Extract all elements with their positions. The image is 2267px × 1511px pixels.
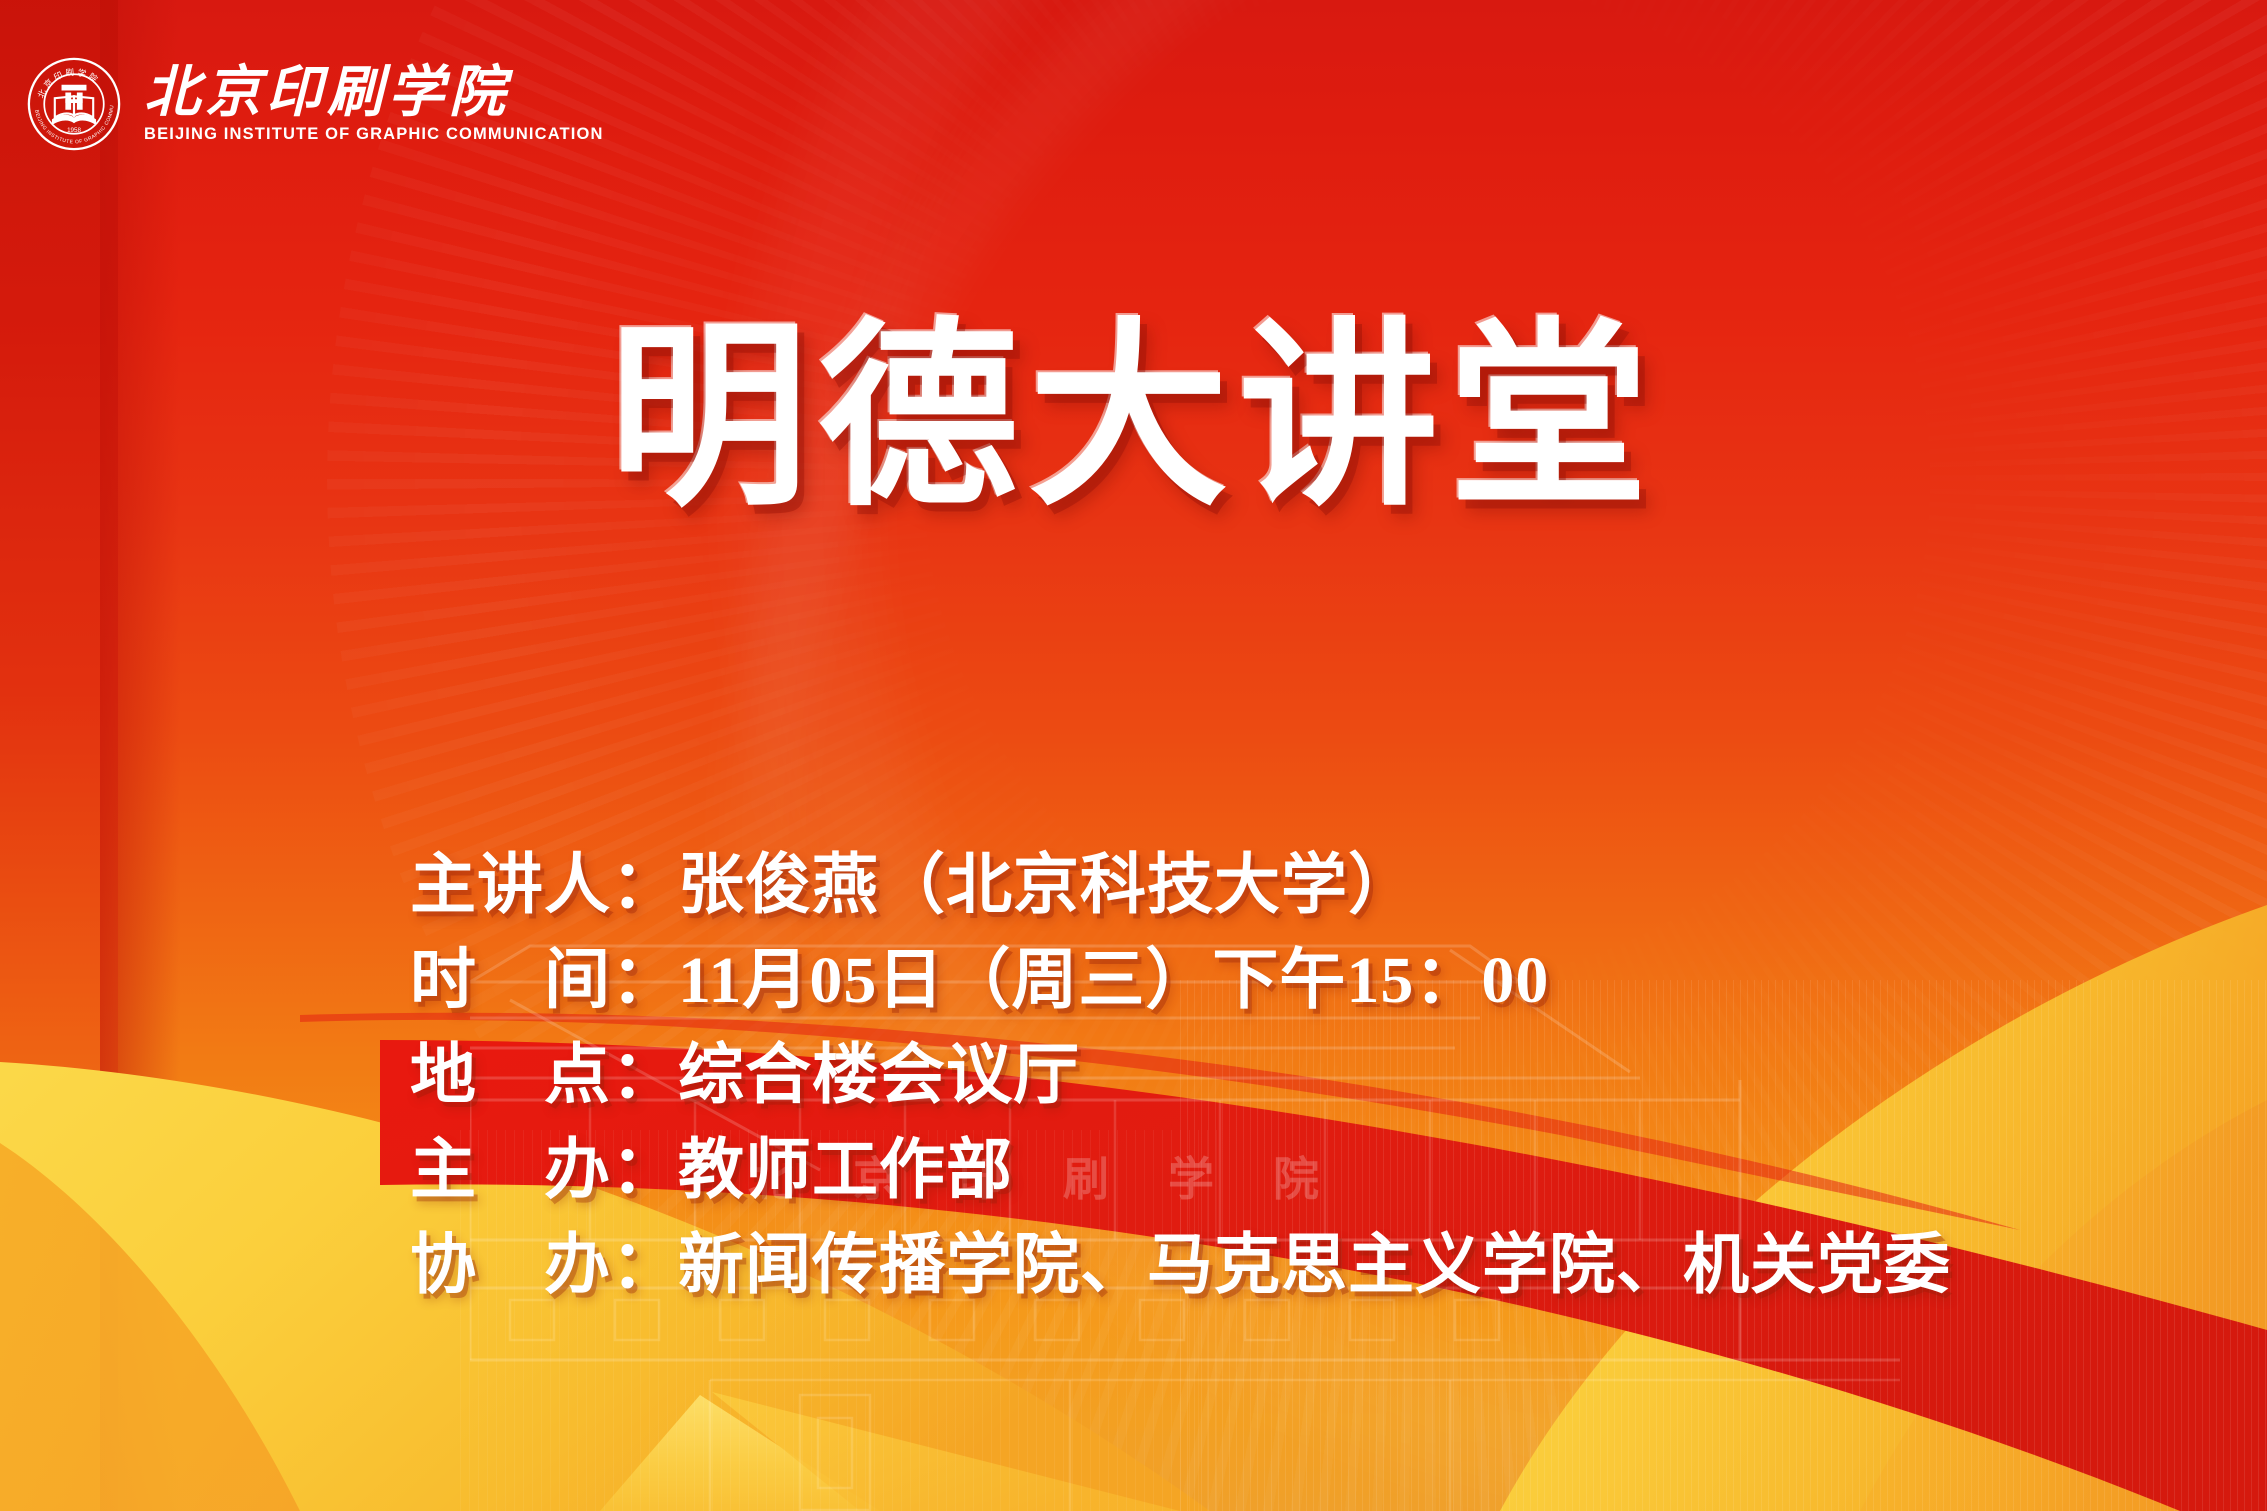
seal-year-label: 1958 <box>67 127 81 134</box>
event-details-block: 主讲人：张俊燕（北京科技大学） 时 间：11月05日（周三）下午15：00 地 … <box>410 838 1951 1313</box>
university-seal-icon: 北京印刷学院 BEIJING INSTITUTE OF GRAPHIC COMM… <box>26 56 122 152</box>
poster-canvas: 北 京 印 刷 学 院 <box>0 0 2267 1511</box>
institution-brand-lockup: 北京印刷学院 BEIJING INSTITUTE OF GRAPHIC COMM… <box>26 56 604 152</box>
institution-name-cn: 北京印刷学院 <box>144 65 604 121</box>
detail-line-host: 主 办：教师工作部 <box>410 1123 1951 1218</box>
detail-line-time: 时 间：11月05日（周三）下午15：00 <box>410 933 1951 1028</box>
left-edge-fade <box>100 0 180 1511</box>
detail-line-location: 地 点：综合楼会议厅 <box>410 1028 1951 1123</box>
detail-line-cohost: 协 办：新闻传播学院、马克思主义学院、机关党委 <box>410 1218 1951 1313</box>
page-title: 明德大讲堂 <box>0 320 2267 520</box>
institution-name-en: BEIJING INSTITUTE OF GRAPHIC COMMUNICATI… <box>144 125 604 144</box>
detail-line-speaker: 主讲人：张俊燕（北京科技大学） <box>410 838 1951 933</box>
